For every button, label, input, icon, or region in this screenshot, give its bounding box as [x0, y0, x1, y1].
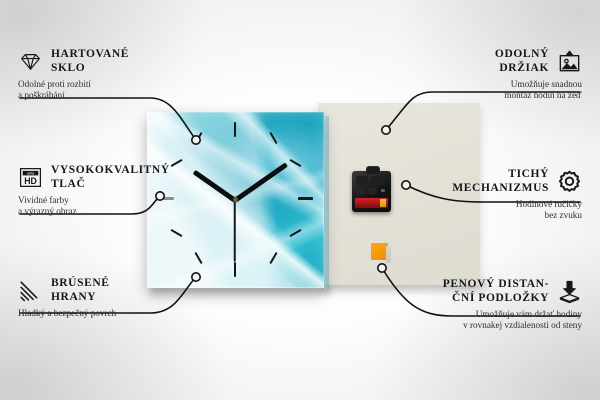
feature-title: HARTOVANÉ SKLO [51, 48, 129, 75]
feature-high-quality-print: ultra HD VYSOKOKVALITNÝ TLAČ Vividné far… [18, 164, 218, 218]
beveled-edge-icon [18, 278, 43, 303]
feature-title: VYSOKOKVALITNÝ TLAČ [51, 164, 170, 191]
diamond-icon [18, 49, 43, 74]
feature-description: Hodinové ručičky bez zvuku [382, 199, 582, 222]
feature-description: Odolné proti rozbití a poškrábání [18, 79, 208, 102]
foam-pad-icon [557, 279, 582, 304]
connector-endpoint-left-1 [192, 136, 200, 144]
feature-durable-hanger: ODOLNÝ DRŽIAK Umožňuje snadnou montáž ho… [392, 48, 582, 102]
feature-description: Umožňuje vám držať hodiny v rovnakej vzd… [370, 309, 582, 332]
feature-hardened-glass: HARTOVANÉ SKLO Odolné proti rozbití a po… [18, 48, 208, 102]
connector-line-left-1 [20, 98, 196, 140]
feature-description: Vividné farby a výrazný obraz [18, 195, 218, 218]
feature-description: Hladký a bezpečný povrch [18, 308, 218, 319]
feature-title: TICHÝ MECHANIZMUS [452, 168, 549, 195]
svg-text:HD: HD [24, 176, 37, 186]
connector-endpoint-right-1 [382, 126, 390, 134]
feature-foam-spacers: PENOVÝ DISTAN- ČNÍ PODLOŽKY Umožňuje vám… [370, 278, 582, 332]
feature-title: PENOVÝ DISTAN- ČNÍ PODLOŽKY [443, 278, 549, 305]
feature-title: BRÚSENÉ HRANY [51, 277, 110, 304]
ultra-hd-icon: ultra HD [18, 165, 43, 190]
product-infographic: HARTOVANÉ SKLO Odolné proti rozbití a po… [0, 0, 600, 400]
feature-title: ODOLNÝ DRŽIAK [495, 48, 549, 75]
feature-beveled-edges: BRÚSENÉ HRANY Hladký a bezpečný povrch [18, 277, 218, 319]
feature-silent-mechanism: TICHÝ MECHANIZMUS Hodinové ručičky bez z… [382, 168, 582, 222]
picture-hanger-icon [557, 49, 582, 74]
feature-description: Umožňuje snadnou montáž hodin na zeď [392, 79, 582, 102]
gear-icon [557, 169, 582, 194]
connector-endpoint-right-3 [378, 264, 386, 272]
